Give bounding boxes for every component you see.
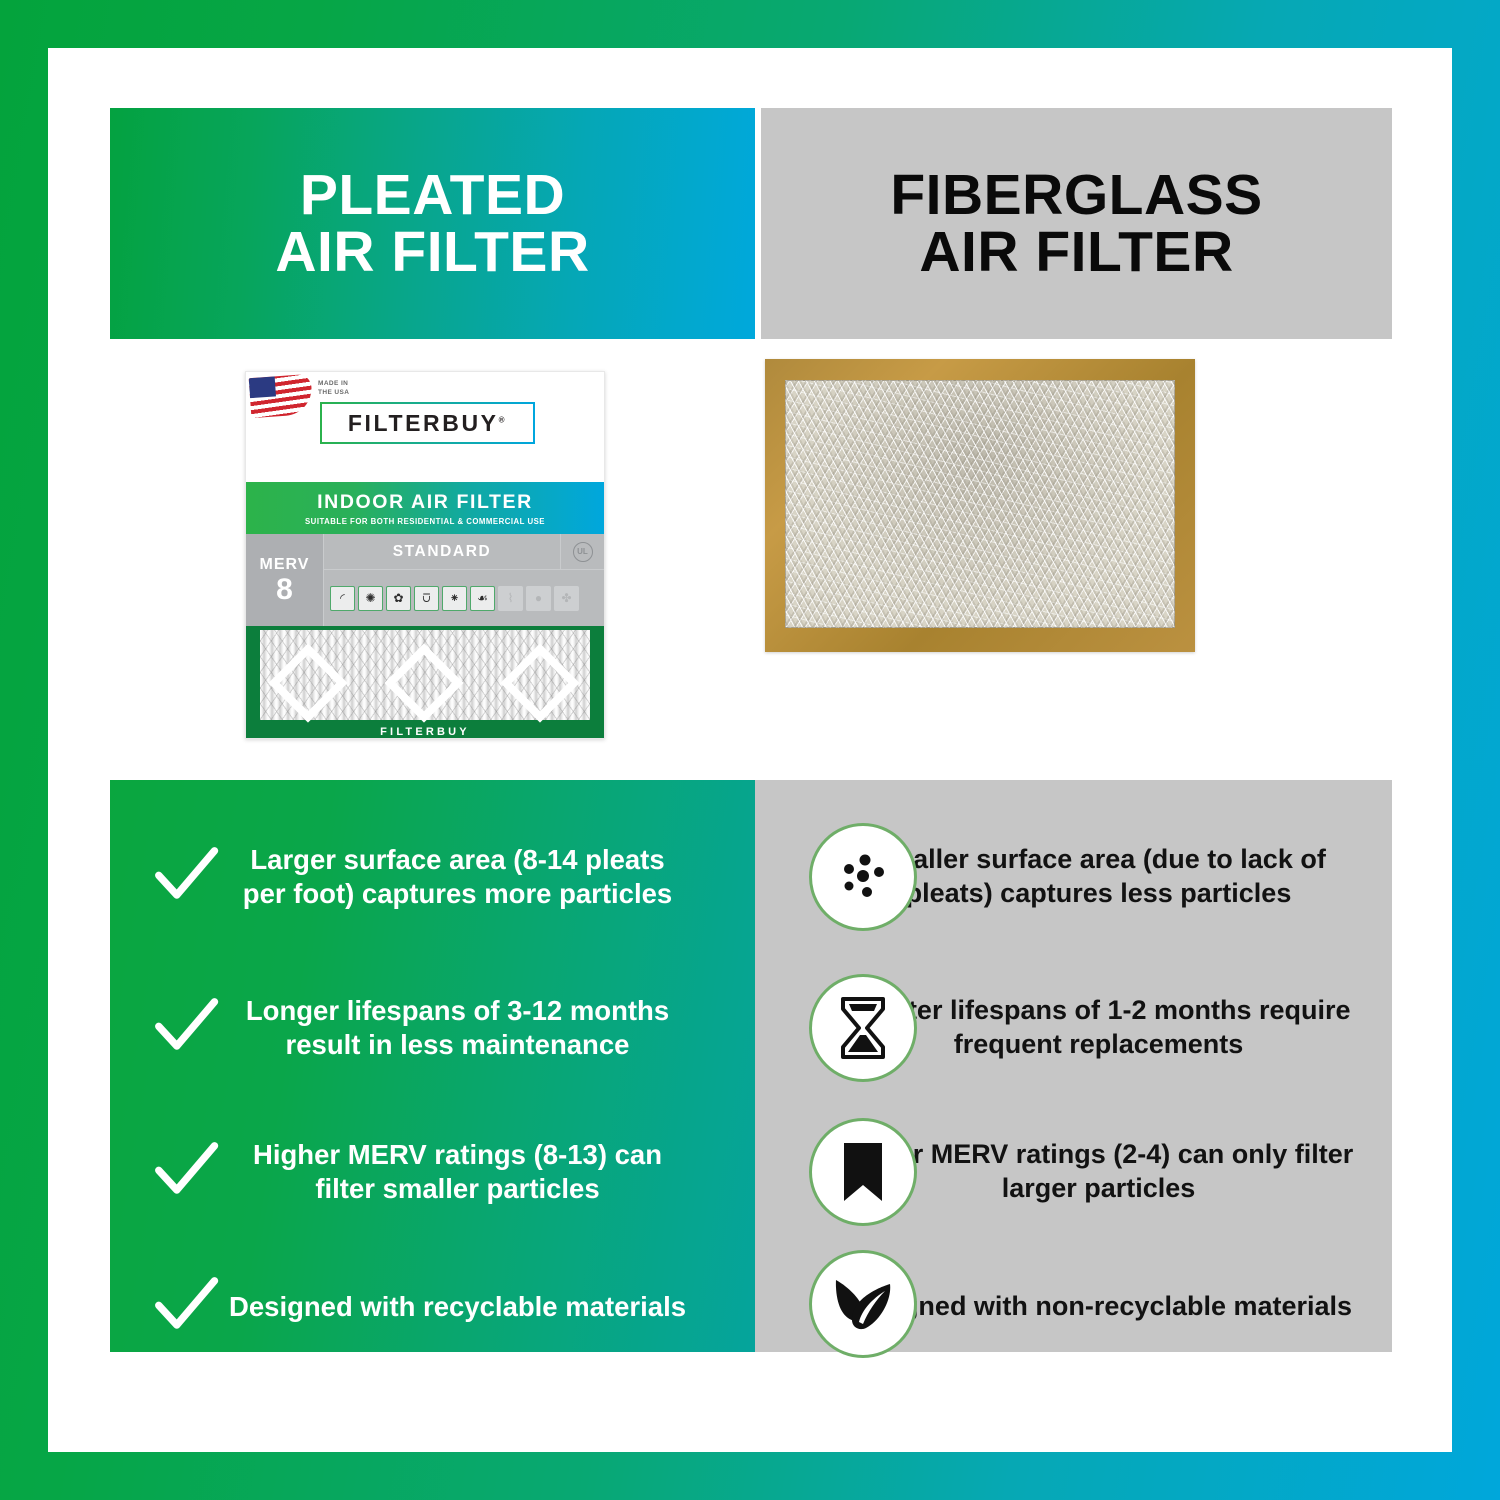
hourglass-icon	[809, 974, 917, 1082]
header-fiberglass-air-filter: FIBERGLASS AIR FILTER	[761, 108, 1392, 339]
ul-icon: UL	[573, 542, 593, 562]
indoor-air-filter-banner: INDOOR AIR FILTER SUITABLE FOR BOTH RESI…	[246, 482, 604, 534]
row-3-left: Higher MERV ratings (8-13) can filter sm…	[110, 1131, 755, 1213]
header-fiberglass-line2: AIR FILTER	[890, 224, 1262, 281]
filterbuy-wordmark: FILTERBUY	[348, 410, 499, 436]
filter-brand-text: FILTERBUY	[246, 726, 604, 738]
table-row: Designed with recyclable materials Desig…	[110, 1242, 1392, 1372]
bacteria-icon: ●	[526, 586, 551, 611]
capability-icon-strip: ◜ ✺ ✿ ⩂ ⁕ ☙ ⌇ ● ✤	[324, 570, 604, 626]
dust-mites-icon: ✺	[358, 586, 383, 611]
grade-label: STANDARD	[324, 543, 560, 561]
lint-icon: ⁕	[442, 586, 467, 611]
registered-mark: ®	[499, 415, 508, 424]
header-fiberglass-line1: FIBERGLASS	[890, 163, 1262, 227]
header-pleated-air-filter: PLEATED AIR FILTER	[110, 108, 755, 339]
product-image-band: MADE IN THE USA FILTERBUY® INDOOR AIR FI…	[110, 345, 1392, 773]
mold-icon: ⩂	[414, 586, 439, 611]
product-image-fiberglass	[755, 345, 1392, 773]
row-2-left: Longer lifespans of 3-12 months result i…	[110, 987, 755, 1069]
virus-icon: ✤	[554, 586, 579, 611]
box-spec-band: MERV 8 STANDARD UL ◜ ✺ ✿	[246, 534, 604, 626]
merv-value: 8	[276, 575, 293, 605]
table-row: Higher MERV ratings (8-13) can filter sm…	[110, 1102, 1392, 1242]
checkmark-icon	[144, 1131, 226, 1213]
checkmark-icon	[144, 1266, 226, 1348]
ul-certification-mark: UL	[560, 534, 604, 569]
row-1-left-text: Larger surface area (8-14 pleats per foo…	[226, 843, 745, 910]
merv-badge: MERV 8	[246, 534, 324, 626]
table-row: Larger surface area (8-14 pleats per foo…	[110, 802, 1392, 952]
filterbuy-logo-frame: FILTERBUY®	[320, 402, 535, 444]
row-2-left-text: Longer lifespans of 3-12 months result i…	[226, 994, 745, 1061]
row-1-left: Larger surface area (8-14 pleats per foo…	[110, 836, 755, 918]
banner-subtitle: SUITABLE FOR BOTH RESIDENTIAL & COMMERCI…	[305, 517, 545, 526]
box-spec-right: STANDARD UL ◜ ✺ ✿ ⩂ ⁕ ☙ ⌇	[324, 534, 604, 626]
pet-dander-icon: ☙	[470, 586, 495, 611]
header-row: PLEATED AIR FILTER FIBERGLASS AIR FILTER	[110, 108, 1392, 339]
dust-lint-icon: ◜	[330, 586, 355, 611]
filterbuy-box-photo: MADE IN THE USA FILTERBUY® INDOOR AIR FI…	[245, 371, 605, 739]
fiberglass-media-texture	[785, 380, 1175, 628]
usa-flag-icon	[249, 374, 314, 418]
row-3-left-text: Higher MERV ratings (8-13) can filter sm…	[226, 1138, 745, 1205]
fiberglass-filter-photo	[765, 359, 1195, 652]
comparison-rows: Larger surface area (8-14 pleats per foo…	[110, 780, 1392, 1352]
pollen-icon: ✿	[386, 586, 411, 611]
grade-row: STANDARD UL	[324, 534, 604, 570]
smoke-icon: ⌇	[498, 586, 523, 611]
outer-gradient-frame: PLEATED AIR FILTER FIBERGLASS AIR FILTER…	[0, 0, 1500, 1500]
row-4-left: Designed with recyclable materials	[110, 1266, 755, 1348]
made-in-line1: MADE IN	[318, 380, 349, 389]
banner-title: INDOOR AIR FILTER	[317, 491, 533, 514]
product-image-pleated: MADE IN THE USA FILTERBUY® INDOOR AIR FI…	[110, 345, 755, 773]
bookmark-icon	[809, 1118, 917, 1226]
header-pleated-line1: PLEATED	[300, 163, 565, 227]
table-row: Longer lifespans of 3-12 months result i…	[110, 958, 1392, 1098]
leaf-eco-icon	[809, 1250, 917, 1358]
checkmark-icon	[144, 987, 226, 1069]
checkmark-icon	[144, 836, 226, 918]
row-4-left-text: Designed with recyclable materials	[226, 1290, 745, 1324]
filterbuy-box-top: MADE IN THE USA FILTERBUY®	[246, 372, 604, 482]
made-in-usa-label: MADE IN THE USA	[318, 380, 349, 398]
merv-label: MERV	[260, 556, 310, 574]
made-in-line2: THE USA	[318, 389, 349, 398]
particles-icon	[809, 823, 917, 931]
header-pleated-line2: AIR FILTER	[275, 224, 589, 281]
pleated-filter-media: FILTERBUY	[246, 626, 604, 739]
filterbuy-logo-text: FILTERBUY®	[348, 410, 507, 437]
